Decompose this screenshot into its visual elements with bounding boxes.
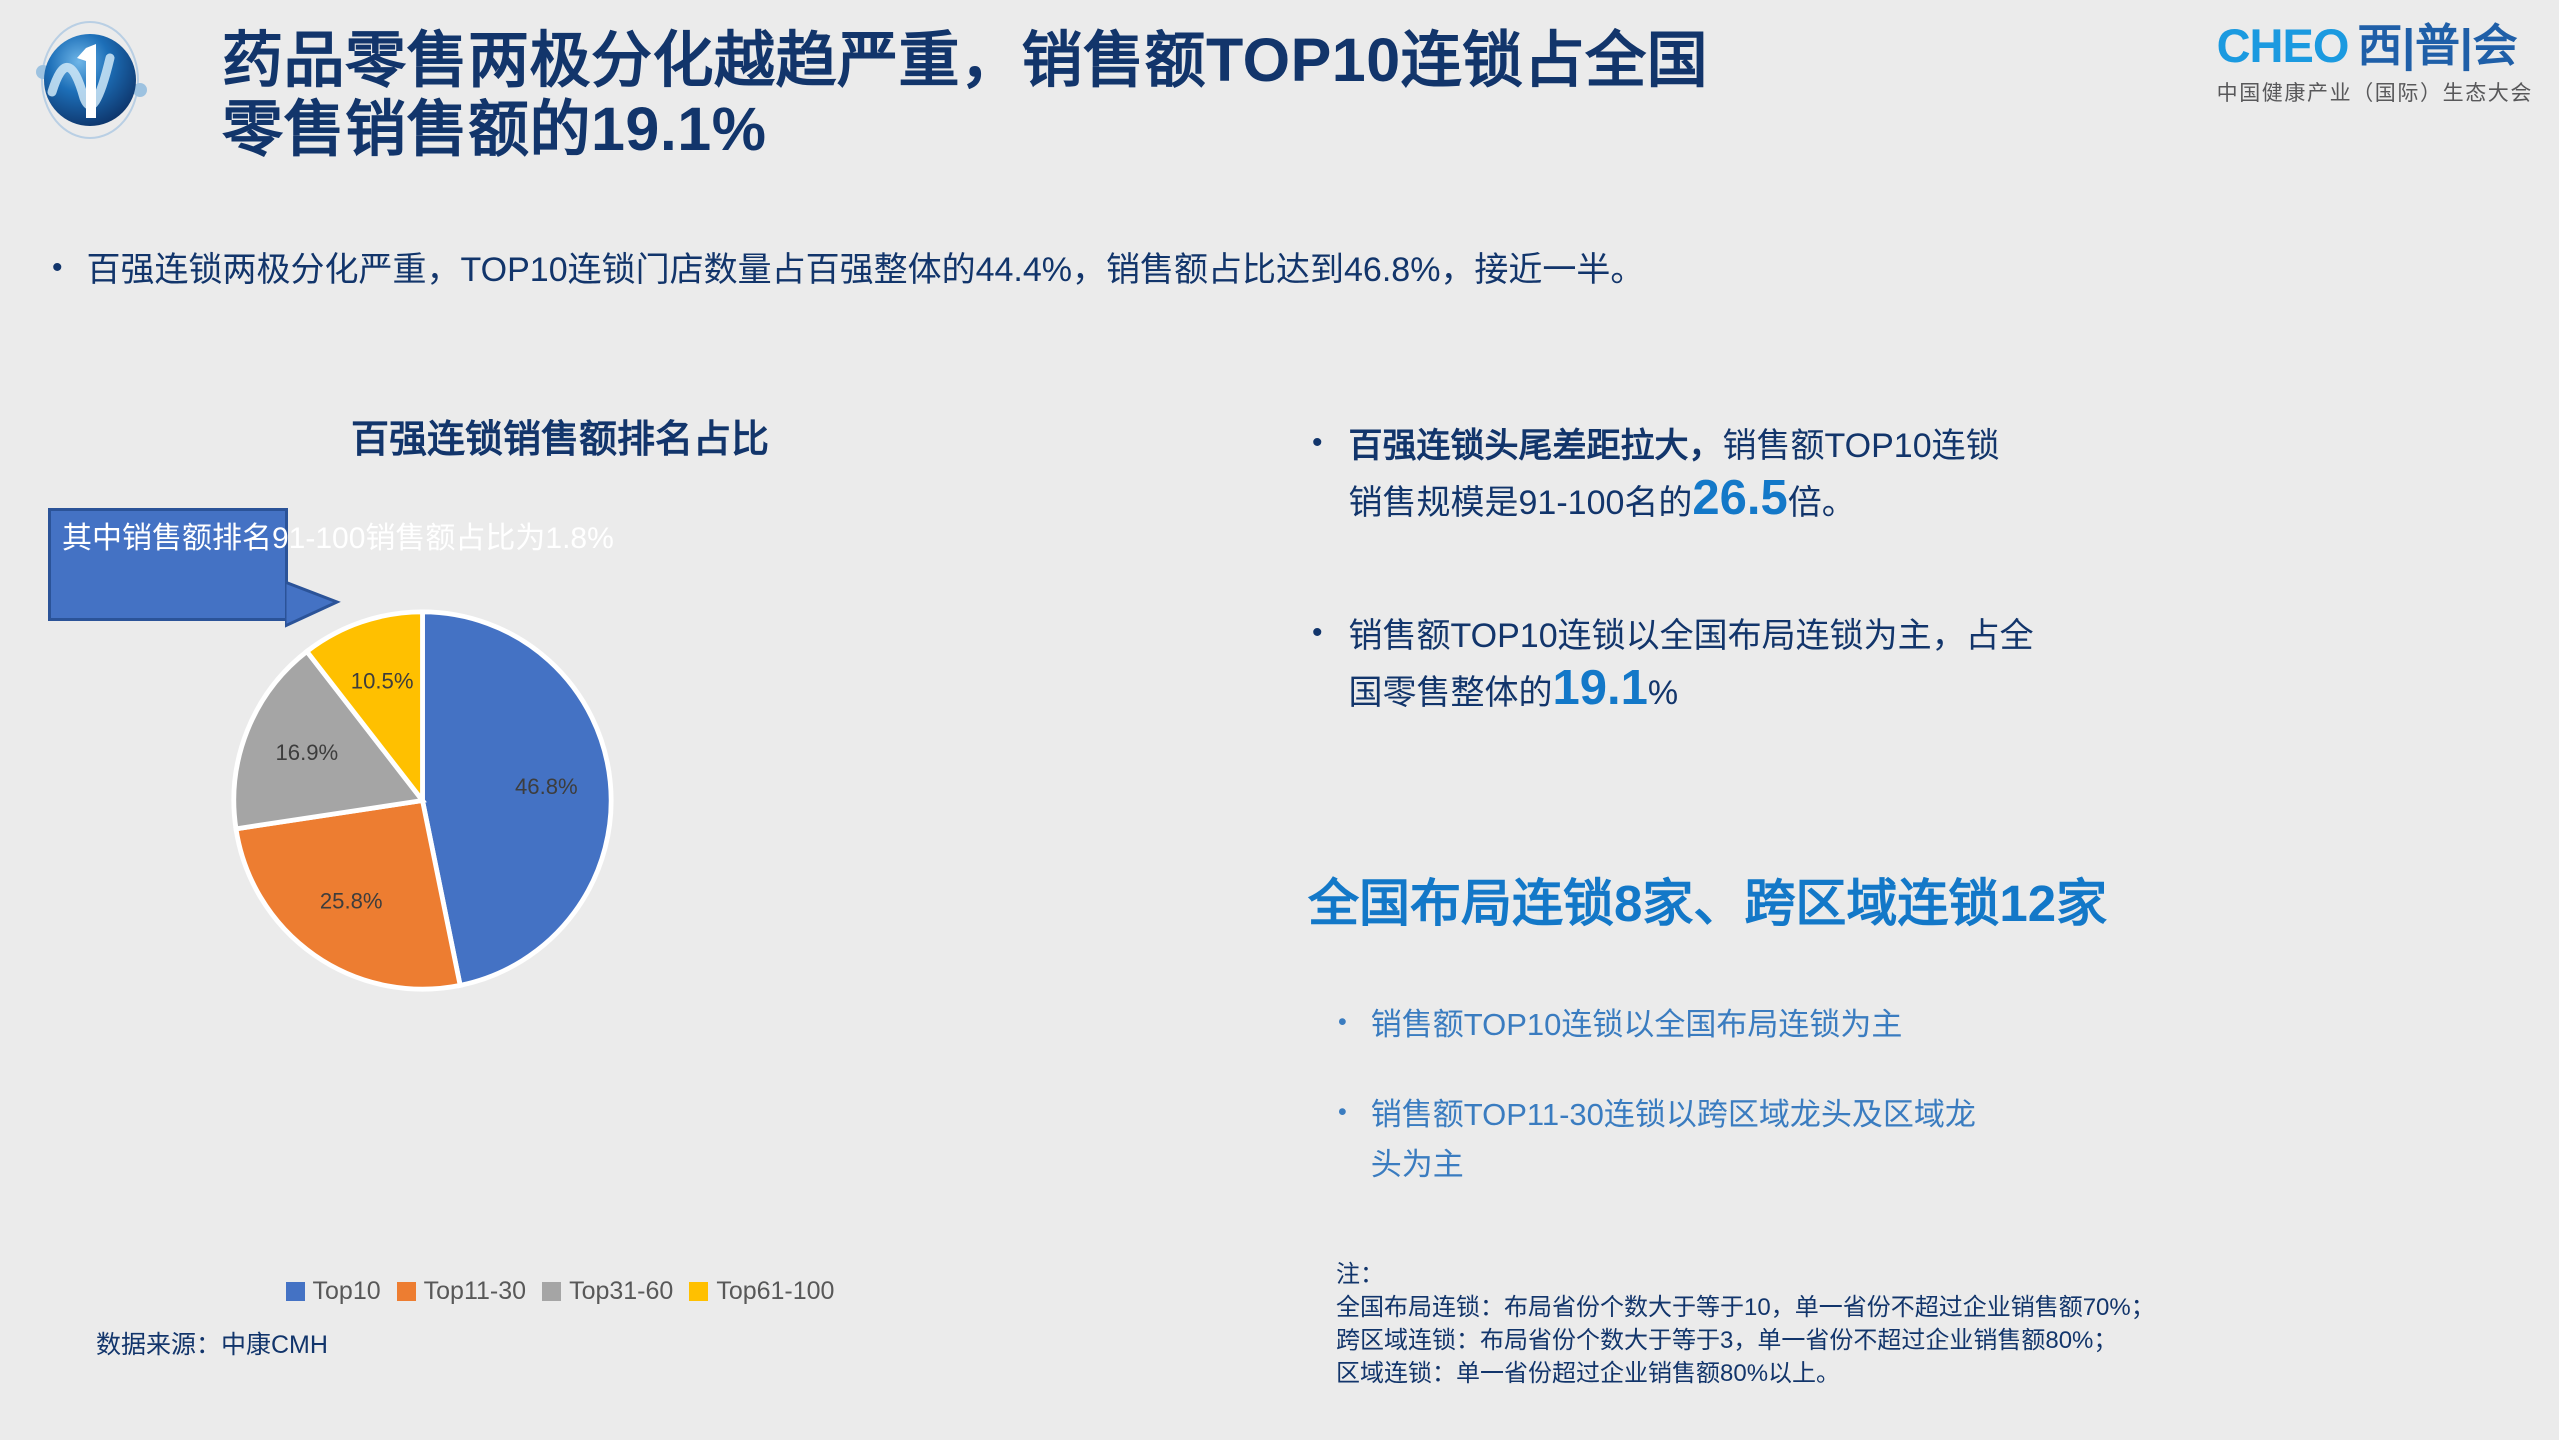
bullet-dot-icon: •: [1312, 420, 1323, 467]
legend-swatch-icon: [542, 1282, 561, 1301]
pie-slice-label-top10: 46.8%: [515, 774, 578, 799]
pie-chart: 46.8%25.8%16.9%10.5%: [230, 608, 615, 993]
right-bullet-2-highlight: 19.1: [1553, 661, 1648, 715]
data-source-label: 数据来源：中康CMH: [96, 1325, 328, 1361]
right-subheading: 全国布局连锁8家、跨区域连锁12家: [1308, 862, 2538, 936]
footnote-line-2: 跨区域连锁：布局省份个数大于等于3，单一省份不超过企业销售额80%；: [1336, 1324, 2536, 1357]
legend-item-top11-30[interactable]: Top11-30: [397, 1277, 526, 1306]
bullet-dot-icon: •: [1312, 610, 1323, 657]
legend-swatch-icon: [286, 1282, 305, 1301]
legend-item-top31-60[interactable]: Top31-60: [542, 1277, 673, 1306]
legend-item-top10[interactable]: Top10: [286, 1277, 381, 1306]
pie-slice-label-top31-60: 16.9%: [276, 740, 339, 765]
page-title-line-2: 零售销售额的19.1%: [222, 95, 2122, 164]
pie-chart-svg: 46.8%25.8%16.9%10.5%: [230, 608, 615, 993]
page-title: 药品零售两极分化越趋严重，销售额TOP10连锁占全国 零售销售额的19.1%: [222, 26, 2122, 164]
lead-bullet-text: 百强连锁两极分化严重，TOP10连锁门店数量占百强整体的44.4%，销售额占比达…: [87, 248, 1645, 294]
chart-title: 百强连锁销售额排名占比: [200, 408, 920, 463]
sub-bullet-1-text: 销售额TOP10连锁以全国布局连锁为主: [1371, 1000, 1903, 1050]
bullet-dot-icon: •: [1338, 1090, 1347, 1135]
page-title-line-1: 药品零售两极分化越趋严重，销售额TOP10连锁占全国: [222, 26, 2122, 95]
footnote-line-0: 注：: [1336, 1258, 2536, 1291]
pie-slice-group: [234, 612, 611, 989]
lead-bullet: • 百强连锁两极分化严重，TOP10连锁门店数量占百强整体的44.4%，销售额占…: [52, 248, 2512, 294]
legend-label: Top61-100: [716, 1277, 834, 1306]
right-bullet-1: • 百强连锁头尾差距拉大，销售额TOP10连锁 销售规模是91-100名的26.…: [1312, 420, 2492, 530]
legend-item-top61-100[interactable]: Top61-100: [689, 1277, 834, 1306]
chart-legend: Top10Top11-30Top31-60Top61-100: [200, 1277, 920, 1306]
bullet-dot-icon: •: [1338, 1000, 1347, 1045]
callout-text: 其中销售额排名91-100销售额占比为1.8%: [62, 521, 822, 557]
footnote-line-3: 区域连锁：单一省份超过企业销售额80%以上。: [1336, 1357, 2536, 1390]
bullet-dot-icon: •: [52, 248, 63, 289]
right-bullet-1-text: 百强连锁头尾差距拉大，销售额TOP10连锁 销售规模是91-100名的26.5倍…: [1349, 420, 2000, 530]
brand-logo-subtitle: 中国健康产业（国际）生态大会: [2217, 77, 2533, 107]
sub-bullet-1: • 销售额TOP10连锁以全国布局连锁为主: [1338, 1000, 2488, 1050]
legend-label: Top11-30: [424, 1277, 526, 1306]
sub-bullet-2: • 销售额TOP11-30连锁以跨区域龙头及区域龙 头为主: [1338, 1090, 2488, 1190]
legend-swatch-icon: [397, 1282, 416, 1301]
right-bullet-1-bold: 百强连锁头尾差距拉大，: [1349, 427, 1723, 465]
footnote: 注： 全国布局连锁：布局省份个数大于等于10，单一省份不超过企业销售额70%； …: [1336, 1258, 2536, 1390]
footnote-line-1: 全国布局连锁：布局省份个数大于等于10，单一省份不超过企业销售额70%；: [1336, 1291, 2536, 1324]
callout-tail-icon: [285, 578, 355, 630]
legend-label: Top10: [313, 1277, 381, 1306]
legend-swatch-icon: [689, 1282, 708, 1301]
brand-logo: CHEO 西|普|会 中国健康产业（国际）生态大会: [2217, 22, 2533, 107]
pie-slice-label-top61-100: 10.5%: [351, 669, 414, 694]
right-bullet-2: • 销售额TOP10连锁以全国布局连锁为主，占全 国零售整体的19.1%: [1312, 610, 2492, 720]
slide-number-badge-icon: [28, 14, 158, 144]
sub-bullet-2-text: 销售额TOP11-30连锁以跨区域龙头及区域龙 头为主: [1371, 1090, 1976, 1190]
legend-label: Top31-60: [569, 1277, 673, 1306]
pie-slice-label-top11-30: 25.8%: [320, 888, 383, 913]
brand-logo-mark-cn: 西|普|会: [2357, 23, 2517, 68]
right-bullet-2-text: 销售额TOP10连锁以全国布局连锁为主，占全 国零售整体的19.1%: [1349, 610, 2034, 720]
right-bullet-2-text-a: 销售额TOP10连锁以全国布局连锁为主，占全 国零售整体的: [1349, 617, 2034, 712]
right-bullet-1-highlight: 26.5: [1692, 471, 1787, 525]
brand-logo-mark: CHEO: [2217, 22, 2349, 69]
right-bullet-2-text-b: %: [1648, 674, 1678, 712]
right-bullet-1-rest-b: 倍。: [1788, 484, 1856, 522]
